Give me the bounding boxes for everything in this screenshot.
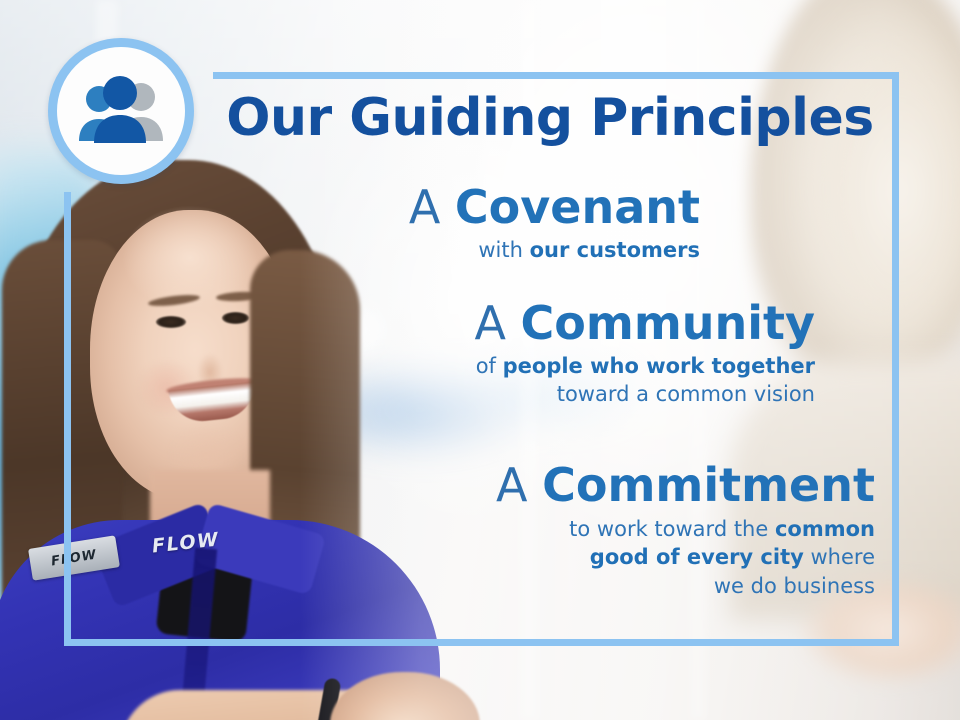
principle-community-subtitle: of people who work togethertoward a comm…	[360, 353, 815, 408]
text-content: Our Guiding Principles A Covenant with o…	[0, 0, 960, 720]
principle-community-word: Community	[521, 296, 815, 350]
principle-commitment-word: Commitment	[542, 458, 875, 512]
principle-covenant-word: Covenant	[455, 180, 700, 234]
principle-covenant-title: A Covenant	[300, 184, 700, 231]
principle-community-lead: A	[474, 296, 520, 350]
principle-covenant-lead: A	[409, 180, 455, 234]
guiding-principles-banner: FLOW FLOW	[0, 0, 960, 720]
principle-covenant: A Covenant with our customers	[300, 184, 700, 265]
principle-commitment-lead: A	[496, 458, 542, 512]
principle-commitment-subtitle: to work toward the commongood of every c…	[420, 515, 875, 601]
principle-commitment-title: A Commitment	[420, 462, 875, 509]
page-title: Our Guiding Principles	[220, 92, 880, 144]
principle-covenant-subtitle: with our customers	[300, 237, 700, 265]
principle-community: A Community of people who work togethert…	[360, 300, 815, 408]
principle-commitment: A Commitment to work toward the commongo…	[420, 462, 875, 601]
principle-community-title: A Community	[360, 300, 815, 347]
